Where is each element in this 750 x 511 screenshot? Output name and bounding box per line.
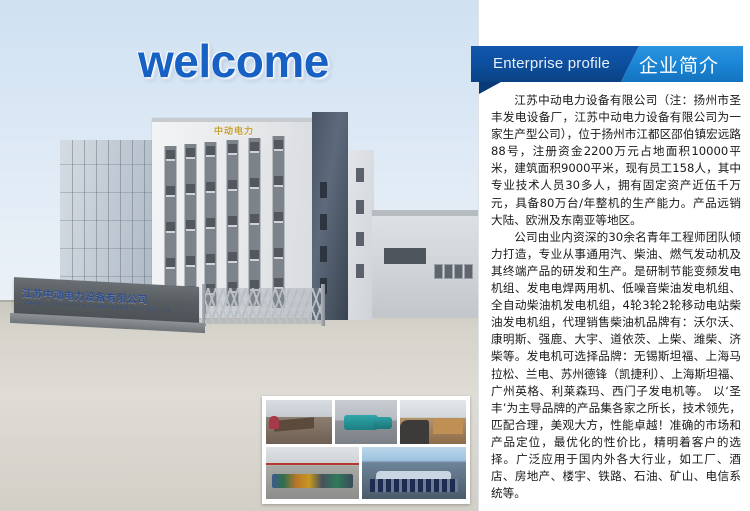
welcome-heading: welcome <box>138 34 329 88</box>
company-profile-text: 江苏中动电力设备有限公司（注：扬州市圣丰发电设备厂，江苏中动电力设备有限公司为一… <box>491 92 741 502</box>
stair-tower <box>348 150 374 320</box>
profile-paragraph-1: 江苏中动电力设备有限公司（注：扬州市圣丰发电设备厂，江苏中动电力设备有限公司为一… <box>491 92 741 229</box>
building-rooftop-sign: 中动电力 <box>214 124 254 137</box>
warehouse-ridge <box>372 210 478 216</box>
photo-showroom-reception <box>400 400 466 444</box>
photo-workshop-assembly <box>266 447 359 499</box>
company-profile-page: 中动电力 <box>0 0 750 511</box>
warehouse-building <box>372 210 478 318</box>
panel-top-strip <box>479 0 750 28</box>
profile-text-panel: Enterprise profile 企业简介 江苏中动电力设备有限公司（注：扬… <box>478 0 750 511</box>
retractable-gate <box>205 288 323 324</box>
photo-generator-sets <box>335 400 397 444</box>
ribbon-label-english: Enterprise profile <box>493 55 610 72</box>
gate-post-right <box>321 284 325 326</box>
profile-paragraph-2: 公司由业内资深的30余名青年工程师团队倾力打造，专业从事通用汽、柴油、燃气发动机… <box>491 229 741 503</box>
warehouse-door <box>384 248 426 264</box>
photo-conference-room <box>362 447 466 499</box>
photo-collage <box>262 396 470 504</box>
collage-row-bottom <box>266 447 466 499</box>
roofline <box>152 118 312 122</box>
ribbon-label-chinese: 企业简介 <box>639 51 719 78</box>
enterprise-profile-banner: Enterprise profile 企业简介 <box>471 46 743 82</box>
photo-office-staff <box>266 400 332 444</box>
collage-row-top <box>266 400 466 444</box>
